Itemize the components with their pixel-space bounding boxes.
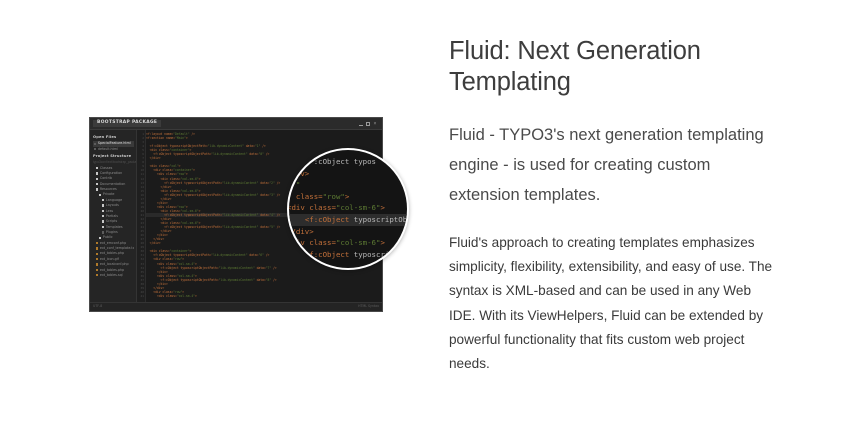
code-token: data=	[255, 278, 266, 282]
code-token: "	[296, 180, 300, 189]
code-token: >	[380, 203, 384, 212]
tree-item-label: ext_emconf.php	[100, 241, 126, 246]
statusbar-left: UTF-8	[93, 305, 102, 308]
code-indent	[287, 180, 296, 189]
file-icon	[102, 231, 104, 233]
magnified-code-line: <div class="col-sm-6">	[287, 202, 409, 214]
code-token: "lib.dynamicContent"	[222, 181, 258, 185]
tree-item-label: Configuration	[100, 171, 122, 176]
minimize-icon[interactable]	[359, 122, 363, 126]
magnified-code-line: iv>	[287, 168, 409, 180]
code-token: <f:cObject typoscriptObjectPath=	[164, 193, 222, 197]
open-file-item[interactable]: default.html	[93, 147, 134, 152]
code-token: />	[271, 278, 276, 282]
tree-item-label: Less	[106, 209, 113, 214]
project-path: typo3conf/ext/bootstrap_package	[93, 160, 134, 164]
code-token: <f:cObject typoscriptObjectPath=	[164, 213, 222, 217]
tree-item-label: ext_tables.php	[100, 268, 124, 273]
folder-icon	[102, 220, 104, 222]
code-indent	[287, 215, 305, 224]
code-token: />	[275, 181, 280, 185]
code-token: <f:section name=	[146, 136, 175, 140]
folder-icon	[102, 204, 104, 206]
code-token: <div class=	[287, 203, 336, 212]
code-token: typoscriptOb	[349, 215, 407, 224]
magnified-code-line: class="row">	[287, 191, 409, 203]
file-icon	[96, 274, 98, 276]
close-icon[interactable]: ×	[373, 122, 377, 126]
folder-icon	[96, 172, 98, 174]
code-token: "col-sm-6"	[336, 238, 381, 247]
code-token: "lib.dynamicContent"	[219, 278, 255, 282]
tree-item[interactable]: ext_conf_template.txt	[93, 246, 134, 251]
code-token: "Main"	[175, 136, 186, 140]
file-icon	[96, 263, 98, 265]
code-token: "lib.dynamicContent"	[211, 152, 247, 156]
magnifier-lens: :cObject typos iv> " class="row"><div cl…	[287, 148, 409, 270]
code-indent	[287, 169, 296, 178]
tree-item-label: Partials	[106, 214, 118, 219]
file-icon	[96, 247, 98, 249]
code-token: <f:cObject typoscriptObjectPath=	[161, 278, 219, 282]
code-token: class=	[296, 192, 323, 201]
project-tree[interactable]: ClassesConfigurationContribDocumentation…	[93, 165, 134, 278]
code-token: <f:cObject	[305, 215, 350, 224]
code-token: "lib.dynamicContent"	[222, 225, 258, 229]
code-token: data=	[244, 144, 255, 148]
code-token: <f:cObject typoscriptObjectPath=	[153, 152, 211, 156]
code-token: typoscript	[349, 250, 398, 259]
folder-icon	[102, 215, 104, 217]
line-number: 41	[137, 294, 145, 298]
tree-item-label: ext_tables.php	[100, 251, 124, 256]
code-token: <f:cObject typoscriptObjectPath=	[164, 225, 222, 229]
tree-item-label: Private	[103, 192, 115, 197]
article-text-column: Fluid: Next Generation Templating Fluid …	[449, 36, 779, 376]
code-token: >	[380, 238, 384, 247]
code-token: "lib.dynamicContent"	[222, 213, 258, 217]
tree-item-label: ext_localconf.php	[100, 262, 129, 267]
code-token: />	[271, 266, 276, 270]
code-token: </div>	[287, 227, 314, 236]
tree-item[interactable]: ext_tables.sql	[93, 273, 134, 278]
folder-icon	[96, 183, 98, 185]
code-indent	[287, 157, 314, 166]
folder-icon	[99, 194, 101, 196]
editor-titlebar: BOOTSTRAP PACKAGE ×	[90, 118, 382, 130]
code-token: "row"	[323, 192, 345, 201]
page-title: Fluid: Next Generation Templating	[449, 36, 779, 98]
line-number-gutter: 1234567891011121314151617181920212223242…	[137, 130, 146, 302]
code-token: >	[186, 136, 188, 140]
folder-icon	[99, 237, 101, 239]
tree-item-label: Layouts	[106, 203, 119, 208]
tree-item-label: ext_icon.gif	[100, 257, 119, 262]
maximize-icon[interactable]	[366, 122, 370, 126]
code-token: data=	[258, 225, 269, 229]
folder-icon	[102, 226, 104, 228]
tree-item-label: Plugins	[106, 230, 118, 235]
magnified-code-line: :cObject typos	[287, 156, 409, 168]
editor-statusbar: UTF-8 HTML Syntax	[90, 302, 382, 311]
open-file-label: default.html	[98, 147, 118, 152]
open-files-header: Open Files	[93, 135, 134, 140]
code-token: />	[260, 144, 265, 148]
code-token: "col-sm-4"	[177, 294, 195, 298]
code-line[interactable]: <div class="col-sm-4">	[146, 294, 382, 298]
file-icon	[96, 242, 98, 244]
open-file-label: SpecialFeature.html	[98, 141, 131, 146]
magnified-code-line: <f:cObject typoscriptOb	[287, 214, 409, 226]
code-indent	[287, 250, 305, 259]
window-controls: ×	[359, 122, 379, 126]
open-file-item[interactable]: SpecialFeature.html	[93, 141, 134, 146]
code-token: />	[264, 152, 269, 156]
project-structure-header: Project Structure	[93, 154, 134, 159]
folder-icon	[96, 167, 98, 169]
magnified-code-line: "	[287, 179, 409, 191]
code-token: >	[193, 168, 195, 172]
code-token: data=	[255, 266, 266, 270]
article-body: Fluid's approach to creating templates e…	[449, 231, 779, 376]
code-token: </div>	[150, 241, 161, 245]
folder-icon	[102, 210, 104, 212]
code-token: "lib.dynamicContent"	[211, 253, 247, 257]
code-token: <f:cObject	[305, 250, 350, 259]
tree-item-label: Resources	[100, 187, 117, 192]
code-token: </div>	[150, 156, 161, 160]
code-token: :cObject typos	[314, 157, 376, 166]
code-token: />	[190, 132, 195, 136]
code-token: <div class=	[287, 238, 336, 247]
code-token: data=	[248, 152, 259, 156]
code-token: data=	[258, 181, 269, 185]
magnified-code-line: <f:cObject typoscript	[287, 249, 409, 261]
open-files-list[interactable]: SpecialFeature.htmldefault.html	[93, 141, 134, 152]
file-icon	[96, 269, 98, 271]
code-token: />	[264, 253, 269, 257]
code-token: />	[275, 213, 280, 217]
file-icon	[94, 143, 96, 145]
code-token: iv>	[296, 169, 309, 178]
code-token: />	[275, 193, 280, 197]
folder-icon	[96, 188, 98, 190]
tree-item-label: ext_tables.sql	[100, 273, 123, 278]
tree-item-label: ext_conf_template.txt	[100, 246, 134, 251]
magnified-code-line: </div>	[287, 226, 409, 238]
code-token: data=	[258, 193, 269, 197]
project-sidebar[interactable]: Open Files SpecialFeature.htmldefault.ht…	[90, 130, 137, 302]
tree-item-label: Templates	[106, 225, 123, 230]
folder-icon	[96, 178, 98, 180]
screenshot-figure: BOOTSTRAP PACKAGE × Open Files SpecialFe…	[89, 117, 383, 312]
tree-item-label: Documentation	[100, 182, 125, 187]
code-token: data=	[248, 253, 259, 257]
code-token: <f:cObject typoscriptObjectPath=	[161, 266, 219, 270]
statusbar-right: HTML Syntax	[358, 305, 379, 308]
folder-icon	[102, 199, 104, 201]
code-token: "lib.dynamicContent"	[208, 144, 244, 148]
code-token: <div class=	[157, 294, 177, 298]
code-token: "lib.dynamicContent"	[222, 193, 258, 197]
code-token: "col-sm-6"	[336, 203, 381, 212]
article-lead: Fluid - TYPO3's next generation templati…	[449, 120, 779, 210]
code-token: data=	[258, 213, 269, 217]
code-token: >	[345, 192, 349, 201]
code-token: >	[195, 294, 197, 298]
tree-item-label: Contrib	[100, 176, 112, 181]
file-icon	[96, 258, 98, 260]
tree-item-label: Scripts	[106, 219, 117, 224]
file-icon	[96, 253, 98, 255]
code-token: "lib.dynamicContent"	[219, 266, 255, 270]
code-indent	[287, 192, 296, 201]
tree-item[interactable]: ext_localconf.php	[93, 262, 134, 267]
magnified-code: :cObject typos iv> " class="row"><div cl…	[287, 154, 409, 270]
file-icon	[94, 148, 96, 150]
tree-item-label: Classes	[100, 166, 112, 171]
tree-item-label: Language	[106, 198, 122, 203]
code-token: />	[275, 225, 280, 229]
code-indent	[146, 294, 157, 298]
editor-window-title: BOOTSTRAP PACKAGE	[93, 120, 161, 127]
magnified-code-line: <div class="col-sm-6">	[287, 237, 409, 249]
tree-item-label: Public	[103, 235, 113, 240]
code-token: <f:cObject typoscriptObjectPath=	[164, 181, 222, 185]
